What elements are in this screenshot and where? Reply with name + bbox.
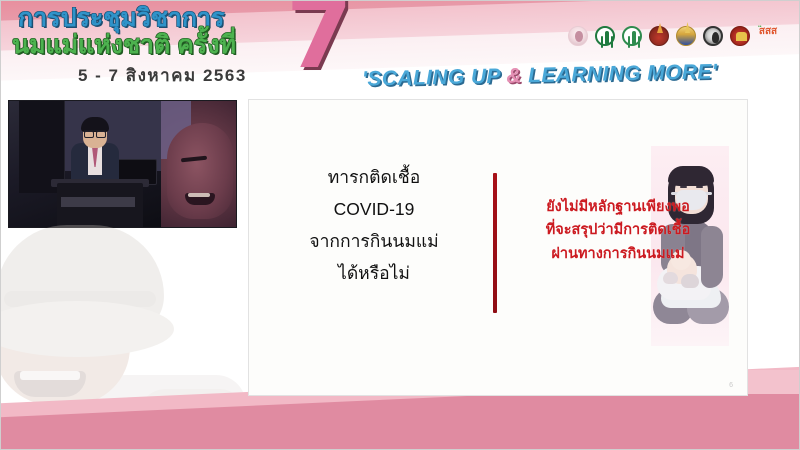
tagline-suffix: LEARNING MORE' [522, 60, 718, 87]
question-line-3: จากการกินนมแม่ [269, 226, 479, 258]
slide-screenshot: ทารกติดเชื้อ COVID-19 จากการกินนมแม่ ได้… [0, 0, 800, 450]
question-line-1: ทารกติดเชื้อ [269, 162, 479, 194]
answer-line-1: ยังไม่มีหลักฐานเพียงพอ [507, 196, 729, 219]
watermark-teeth [20, 371, 80, 380]
question-line-4: ได้หรือไม่ [269, 258, 479, 290]
illus-eye-left [680, 186, 687, 188]
slide-question-text: ทารกติดเชื้อ COVID-19 จากการกินนมแม่ ได้… [269, 162, 479, 289]
conference-date-range: 5 - 7 สิงหาคม 2563 [78, 62, 247, 89]
question-line-2: COVID-19 [269, 194, 479, 226]
video-baby-inset [161, 101, 237, 228]
illus-eye-right [696, 186, 703, 188]
sss-logo-text: สสส [755, 27, 781, 37]
conference-header-banner: 7 การประชุมวิชาการ นมแม่แห่งชาติ ครั้งที… [0, 0, 800, 98]
illus-hair-fringe [668, 166, 714, 186]
video-stage-background [9, 101, 161, 228]
illus-hand-left [663, 272, 678, 284]
vertical-red-divider [493, 173, 497, 313]
department-of-health-green-emblem-icon [620, 26, 644, 52]
slide-page-number: 6 [729, 382, 733, 389]
conference-video-thumbnail[interactable] [8, 100, 237, 228]
royal-red-pagoda-emblem-icon [647, 26, 671, 52]
right-edge-band-pale [748, 370, 800, 396]
illus-hand-right [681, 274, 699, 288]
right-edge-band-pink [748, 394, 800, 450]
content-slide-panel: ทารกติดเชื้อ COVID-19 จากการกินนมแม่ ได้… [248, 99, 748, 396]
ministry-of-public-health-green-emblem-icon [593, 26, 617, 52]
speaker-glasses [84, 130, 106, 135]
edition-number: 7 [286, 0, 353, 82]
baby-teeth [188, 193, 210, 197]
answer-line-2: ที่จะสรุปว่ามีการติดเชื้อ [507, 219, 729, 242]
conference-title-line-1: การประชุมวิชาการ [18, 4, 224, 33]
tagline-prefix: 'SCALING UP [362, 65, 507, 91]
thai-health-sss-logo-icon: •• สสส [755, 26, 781, 52]
conference-title-line-2: นมแม่แห่งชาติ ครั้งที่ [12, 31, 236, 60]
tagline-ampersand: & [506, 64, 522, 87]
red-crown-emblem-icon [728, 26, 752, 52]
sponsor-logo-row: •• สสส [566, 26, 781, 52]
royal-gold-blue-emblem-icon [674, 26, 698, 52]
answer-line-3: ผ่านทางการกินนมแม่ [507, 243, 729, 266]
slide-answer-text: ยังไม่มีหลักฐานเพียงพอ ที่จะสรุปว่ามีการ… [507, 196, 729, 266]
podium-highlight [61, 197, 135, 207]
princess-mother-emblem-icon [566, 26, 590, 52]
watermark-hat-brim [0, 301, 174, 357]
black-white-institute-emblem-icon [701, 26, 725, 52]
